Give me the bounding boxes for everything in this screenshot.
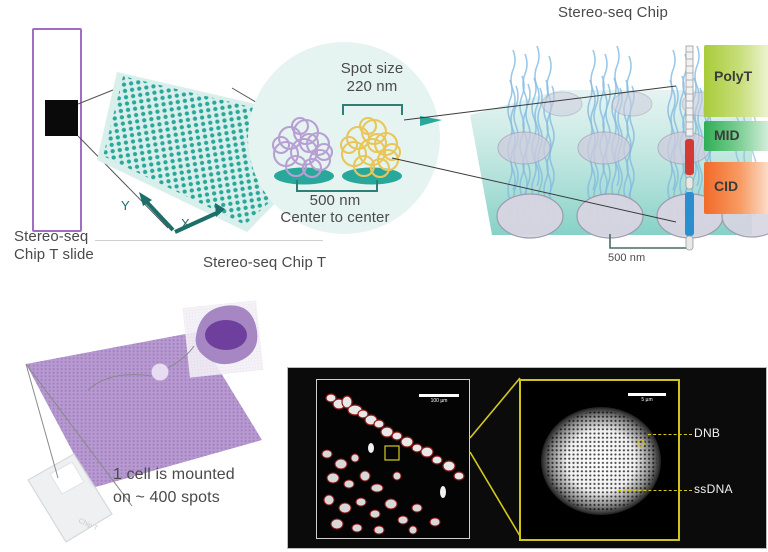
oligo-anchor bbox=[680, 236, 704, 258]
microscopy-image-low-mag: 100 µm bbox=[316, 379, 470, 539]
chip-pitch-label: 500 nm bbox=[608, 252, 645, 265]
slide-chip-window bbox=[45, 100, 78, 136]
scale-label-high-mag: 5 µm bbox=[626, 397, 668, 403]
spot-size-bracket bbox=[342, 104, 403, 115]
scale-label-low-mag: 100 µm bbox=[417, 398, 461, 404]
dnb-label: DNB bbox=[694, 426, 720, 440]
scale-bar-low-mag bbox=[419, 394, 459, 397]
microscopy-image-high-mag: 5 µm bbox=[519, 379, 680, 541]
caption-divider bbox=[95, 240, 323, 241]
spot-size-label-2: 220 nm bbox=[331, 78, 413, 96]
cell-caption-line1: 1 cell is mounted bbox=[113, 466, 235, 485]
pitch-label-2: Center to center bbox=[260, 209, 410, 227]
axis-label-x: X bbox=[181, 216, 190, 231]
dnb-blob-yellow bbox=[334, 108, 410, 186]
figure-root: Y X Spot size 220 nm 500 nm Center to ce… bbox=[0, 0, 768, 552]
ssdna-leader bbox=[618, 490, 692, 491]
axis-label-y: Y bbox=[121, 198, 130, 213]
dnb-leader bbox=[648, 434, 692, 435]
cell-mounting-illustration: Chip T bbox=[0, 292, 300, 552]
cell-caption-line2: on ~ 400 spots bbox=[113, 489, 220, 508]
scale-bar-high-mag bbox=[628, 393, 666, 396]
zoom-wedge bbox=[466, 376, 524, 540]
slide-caption: Stereo-seq Chip T slide bbox=[14, 228, 94, 263]
segment-label-polyt: PolyT bbox=[714, 68, 752, 84]
segment-label-mid: MID bbox=[714, 127, 740, 143]
microscopy-panel: 100 µm bbox=[287, 367, 767, 549]
chip-t-caption: Stereo-seq Chip T bbox=[203, 254, 326, 272]
tissue-section-inset bbox=[183, 300, 264, 377]
center-to-center-bracket bbox=[296, 180, 378, 192]
callout-tail bbox=[420, 110, 450, 132]
oligo-structure-bar bbox=[680, 46, 704, 236]
ssdna-label: ssDNA bbox=[694, 482, 733, 496]
chip-spot-marker bbox=[151, 363, 169, 381]
dnb-blob-purple bbox=[266, 108, 342, 186]
segment-label-cid: CID bbox=[714, 178, 738, 194]
spot-size-label-1: Spot size bbox=[331, 60, 413, 78]
pitch-label-1: 500 nm bbox=[272, 192, 398, 210]
